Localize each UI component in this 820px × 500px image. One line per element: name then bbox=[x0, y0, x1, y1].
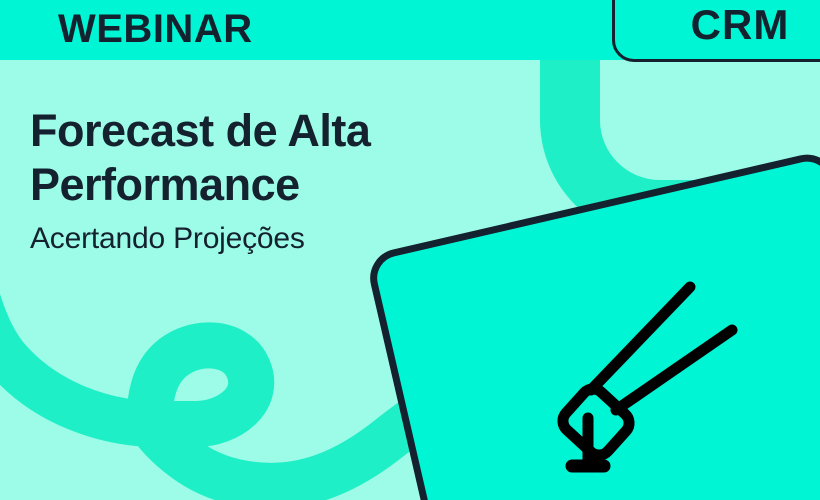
headline-block: Forecast de Alta Performance bbox=[30, 104, 450, 212]
headline-line-1: Forecast de Alta bbox=[30, 104, 450, 158]
webinar-category-label: WEBINAR bbox=[58, 4, 253, 54]
crm-badge-label: CRM bbox=[650, 0, 820, 50]
subtitle: Acertando Projeções bbox=[30, 220, 305, 258]
megaphone-horn bbox=[563, 389, 629, 455]
webinar-banner: CRM WEBINAR Forecast de Alta Performance… bbox=[0, 0, 820, 500]
headline-line-2: Performance bbox=[30, 158, 450, 212]
